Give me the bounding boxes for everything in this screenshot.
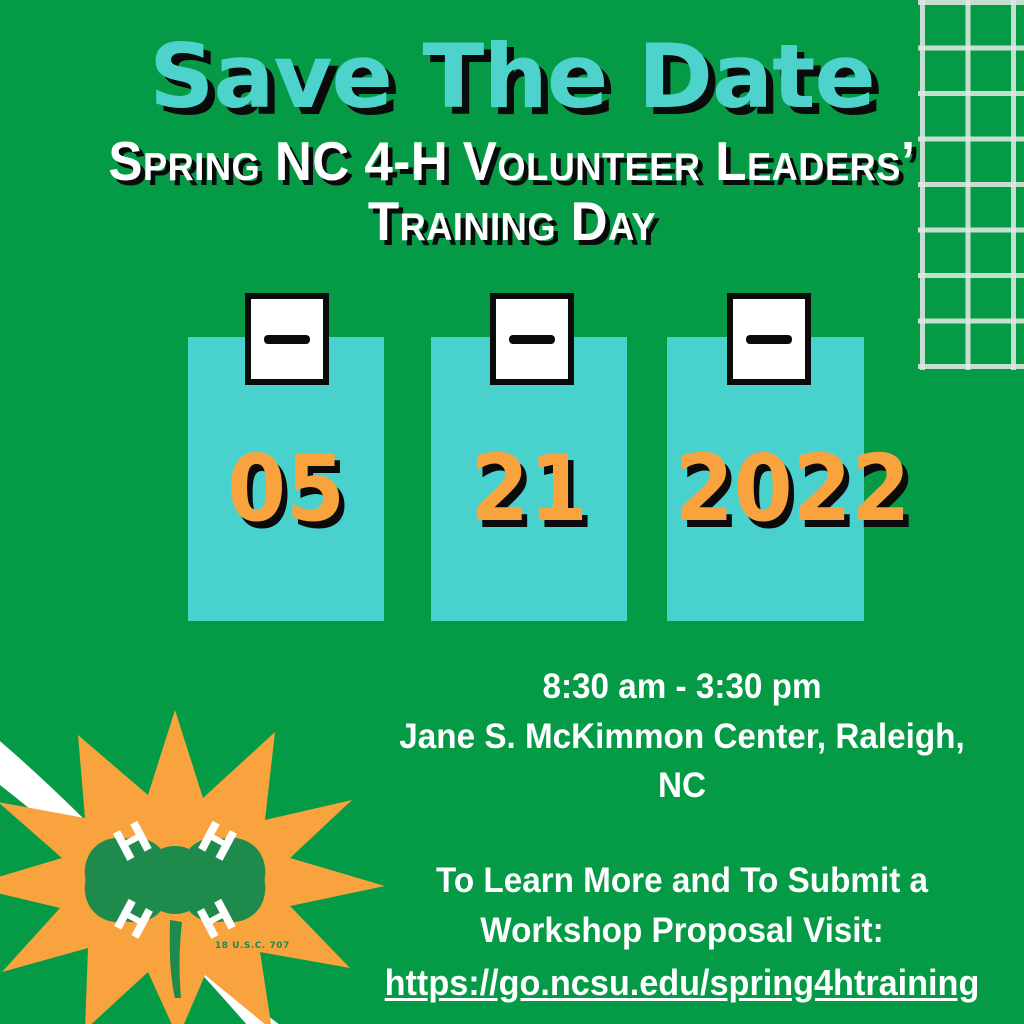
cta-line-2: Workshop Proposal Visit: bbox=[480, 911, 883, 950]
binder-clip-bar-icon bbox=[509, 335, 555, 344]
headline-block: Save The Date Spring NC 4-H Volunteer Le… bbox=[0, 0, 1024, 251]
binder-clip-icon bbox=[727, 293, 811, 385]
event-venue-line-1: Jane S. McKimmon Center, Raleigh, bbox=[369, 712, 996, 762]
binder-clip-bar-icon bbox=[264, 335, 310, 344]
subtitle-line-1: Spring NC 4-H Volunteer bbox=[108, 130, 700, 192]
page-subtitle: Spring NC 4-H Volunteer Leaders’ Trainin… bbox=[36, 120, 988, 251]
logo-legal-mark: 18 U.S.C. 707 bbox=[215, 941, 290, 951]
date-card-year-value: 2022 bbox=[675, 443, 856, 535]
cta-url-link[interactable]: https://go.ncsu.edu/spring4htraining bbox=[369, 957, 996, 1009]
event-venue-line-2: NC bbox=[369, 761, 996, 811]
save-the-date-poster: Save The Date Spring NC 4-H Volunteer Le… bbox=[0, 0, 1024, 1024]
4-h-clover-logo: H H H H 18 U.S.C. 707 bbox=[0, 690, 390, 1024]
cta-line-1: To Learn More and To Submit a bbox=[436, 861, 928, 900]
event-time: 8:30 am - 3:30 pm bbox=[369, 662, 996, 712]
date-card-month-value: 05 bbox=[196, 443, 376, 535]
call-to-action: To Learn More and To Submit a Workshop P… bbox=[369, 856, 996, 1009]
binder-clip-icon bbox=[245, 293, 329, 385]
binder-clip-icon bbox=[490, 293, 574, 385]
binder-clip-bar-icon bbox=[746, 335, 792, 344]
date-card-day-value: 21 bbox=[439, 443, 619, 535]
page-title: Save The Date bbox=[0, 0, 1024, 120]
event-details: 8:30 am - 3:30 pm Jane S. McKimmon Cente… bbox=[369, 662, 996, 811]
date-cards-group: 05 21 2022 bbox=[0, 293, 1024, 628]
